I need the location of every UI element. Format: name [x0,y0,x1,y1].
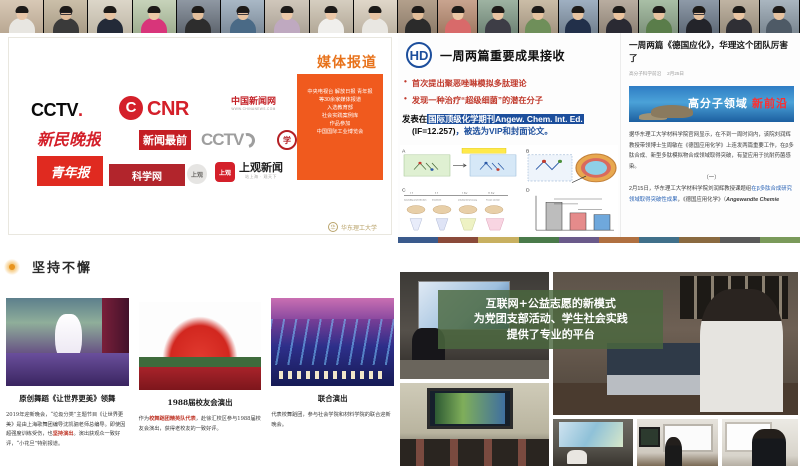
slide-left-column: HD 一周两篇重要成果接收 首次提出聚恶唑啉模拟多肽理论 发现一种治疗“超级细菌… [398,33,620,237]
body-impact-factor: (IF=12.257) [402,126,456,136]
svg-text:B: B [526,149,529,153]
body-prefix: 发表在 [402,114,427,124]
article-banner-image: 高分子领域 新前沿 [629,86,794,122]
cctv-gray-logo: CCTV [201,130,255,150]
participant-tile[interactable] [133,0,177,33]
desc-part-1: 作为 [139,416,149,422]
cnr-logo: CNR [147,98,189,121]
university-footer-name: 华东理工大学 [341,223,377,232]
cctv-logo-dot: . [78,100,83,121]
card-description: 作为校舞蹈团精英队代表，赴徐汇校区参与1988届校友会演出，获得老校友的一致好评… [139,415,262,434]
card-description: 2019年迎新晚会，“垃圾分类”主题节目《让世界更美》是由上海歌舞团编导沈凯骊老… [6,411,129,450]
article-date: 2月25日 [667,71,684,77]
overlay-line: 为党团支部活动、学生社会实践 [446,311,655,327]
photo-collage: 互联网+公益志愿的新模式 为党团支部活动、学生社会实践 提供了专业的平台 [398,270,800,468]
svg-text:C: C [402,188,406,192]
figure-svg: A B [400,145,618,235]
china-news-logo: 中国新闻网WWW.CHINANEWS.COM [231,96,276,111]
bullet-item: 首次提出聚恶唑啉模拟多肽理论 [404,77,616,89]
highlight-line: 中国国际工业博览会 [301,128,379,136]
slide-card: 媒体报道 中央电视台 解放日报 青年报 等30余家媒体报道 入选教育部 社会实践… [8,37,392,235]
banner-island-icon [651,105,693,118]
page-title: 媒体报道 [317,52,377,72]
article-text-tail: ，《德国应用化学》（ [678,197,727,203]
participant-tile[interactable] [639,0,679,33]
participant-tile[interactable] [265,0,309,33]
china-news-logo-url: WWW.CHINANEWS.COM [231,107,275,111]
participant-tile[interactable] [478,0,518,33]
participant-tile[interactable] [310,0,354,33]
panel-volunteer-collage[interactable]: 互联网+公益志愿的新模式 为党团支部活动、学生社会实践 提供了专业的平台 [398,237,800,468]
whiteboard-teaching-photo [635,417,719,468]
video-participant-strip-top-right[interactable] [398,0,800,33]
article-section-marker: （一） [629,173,794,184]
card-caption: 原创舞蹈《让世界更美》领舞 [6,393,129,404]
participant-tile[interactable] [599,0,639,33]
svg-text:A: A [402,149,406,153]
banner-text-main: 高分子领域 [688,98,748,110]
svg-text:wounding and infection: wounding and infection [404,199,426,202]
whiteboard-student-photo [720,417,800,468]
xinwen-zuiqian-logo: 新闻最前 [139,130,191,150]
card-row: 原创舞蹈《让世界更美》领舞 2019年迎新晚会，“垃圾分类”主题节目《让世界更美… [6,298,394,468]
desc-part-1: 代表校舞蹈团，参与社会学院和材料学院的联合迎新晚会。 [271,412,390,428]
xinmin-evening-news-logo: 新民晚报 [37,126,101,150]
panel-research-achievement[interactable]: HD 一周两篇重要成果接收 首次提出聚恶唑啉模拟多肽理论 发现一种治疗“超级细菌… [398,0,800,237]
highlight-line: 作品参加 [301,120,379,128]
cctv-gray-logo-text: CCTV [201,130,243,150]
shangguan-news-logo-slogan: 站上海 · 观天下 [245,175,277,180]
card-original-dance[interactable]: 原创舞蹈《让世界更美》领舞 2019年迎新晚会，“垃圾分类”主题节目《让世界更美… [6,298,129,468]
slide-persistence: 坚持不懈 原创舞蹈《让世界更美》领舞 2019年迎新晚会，“垃圾分类”主题节目《… [0,237,398,468]
card-joint-performance[interactable]: 联合演出 代表校舞蹈团，参与社会学院和材料学院的联合迎新晚会。 [271,298,394,468]
card-description: 代表校舞蹈团，参与社会学院和材料学院的联合迎新晚会。 [271,411,394,430]
article-source: 高分子科学前沿 [629,71,661,77]
article-text-plain: 2月15日，华东理工大学材料学院刘润辉教授课题组 [629,186,751,192]
slide-volunteer-collage: 互联网+公益志愿的新模式 为党团支部活动、学生社会实践 提供了专业的平台 [398,270,800,468]
slide-heading-row: HD 一周两篇重要成果接收 [406,42,616,68]
university-ring-icon: 华 [328,222,338,232]
china-news-logo-text: 中国新闻网 [231,96,276,107]
desc-highlight: 校舞蹈团精英队代表 [149,416,196,422]
article-byline: 高分子科学前沿 2月25日 [629,71,794,77]
participant-tile[interactable] [720,0,760,33]
article-title: 一周两篇《德国应化》，华理这个团队厉害了 [629,39,794,65]
cctv-logo-text: CCTV [31,100,78,121]
svg-text:2 h: 2 h [410,192,413,194]
participant-tile[interactable] [0,0,44,33]
university-seal-logo: 学 [277,130,297,150]
video-participant-strip-top-left[interactable] [0,0,398,33]
participant-tile[interactable] [679,0,719,33]
card-caption: 联合演出 [271,393,394,404]
overlay-line: 互联网+公益志愿的新模式 [446,296,655,312]
card-alumni-performance[interactable]: 1988届校友会演出 作为校舞蹈团精英队代表，赴徐汇校区参与1988届校友会演出… [139,298,262,468]
svg-text:4 h: 4 h [435,192,438,194]
sciencenet-logo-text: 科学网 [132,168,162,183]
highlight-box: 中央电视台 解放日报 青年报 等30余家媒体报道 入选教育部 社会实践案例库 作… [297,74,383,180]
participant-tile[interactable] [519,0,559,33]
highlight-line: 等30余家媒体报道 [301,96,379,104]
desc-highlight: 坚持演出 [53,431,74,437]
overlay-caption: 互联网+公益志愿的新模式 为党团支部活动、学生社会实践 提供了专业的平台 [438,290,663,349]
persistence-content: 坚持不懈 原创舞蹈《让世界更美》领舞 2019年迎新晚会，“垃圾分类”主题节目《… [0,243,398,468]
article-paragraph-last: 2月15日，华东理工大学材料学院刘润辉教授课题组在β多肽合成研究领域取得突破性成… [629,184,794,206]
banner-text-accent: 新前沿 [752,98,788,110]
participant-tile[interactable] [760,0,800,33]
panel-persistence[interactable]: 坚持不懈 原创舞蹈《让世界更美》领舞 2019年迎新晚会，“垃圾分类”主题节目《… [0,237,398,468]
participant-tile[interactable] [177,0,221,33]
slide-media-coverage: 媒体报道 中央电视台 解放日报 青年报 等30余家媒体报道 入选教育部 社会实践… [0,33,398,237]
bullet-text: 发现一种治疗“超级细菌”的潜在分子 [412,94,543,106]
slide-research-achievement: HD 一周两篇重要成果接收 首次提出聚恶唑啉模拟多肽理论 发现一种治疗“超级细菌… [398,33,800,237]
article-paragraph: 据华东理工大学材料学院官网显示，在不到一周时间内，该院刘润辉教授带领博士生周敏在… [629,130,794,173]
classroom-screen-photo [398,381,551,468]
sciencenet-logo: 科学网 [109,164,185,186]
svg-text:D: D [526,188,530,192]
bullet-item: 发现一种治疗“超级细菌”的潜在分子 [404,94,616,106]
bullet-list: 首次提出聚恶唑啉模拟多肽理论 发现一种治疗“超级细菌”的潜在分子 [404,77,616,106]
shangguan-badge-logo: 上观 [215,162,235,182]
body-highlight: 国际顶级化学期刊Angew. Chem. Int. Ed. [427,114,584,124]
svg-text:anti-bacterial assay: anti-bacterial assay [458,199,477,202]
participant-tile[interactable] [438,0,478,33]
participant-tile[interactable] [354,0,398,33]
svg-text:11 day: 11 day [488,192,494,194]
cnr-badge-icon: C [119,96,143,120]
highlight-line: 社会实践案例库 [301,112,379,120]
university-logo-icon: HD [406,42,432,68]
overlay-line: 提供了专业的平台 [446,327,655,343]
participant-tile[interactable] [221,0,265,33]
qingnian-bao-logo: 青年报 [37,156,103,186]
participant-tile[interactable] [559,0,599,33]
article-body: 据华东理工大学材料学院官网显示，在不到一周时间内，该院刘润辉教授带领博士生周敏在… [629,130,794,206]
panel-media-coverage[interactable]: 媒体报道 中央电视台 解放日报 青年报 等30余家媒体报道 入选教育部 社会实践… [0,0,398,237]
wechat-article-column[interactable]: 一周两篇《德国应化》，华理这个团队厉害了 高分子科学前沿 2月25日 高分子领域… [620,33,800,237]
page-title: 坚持不懈 [32,257,92,276]
sparkle-icon [4,259,20,275]
svg-text:1 day: 1 day [462,192,467,194]
slide-body-text: 发表在国际顶级化学期刊Angew. Chem. Int. Ed. (IF=12.… [402,113,616,137]
shangguan-news-logo: 上观新闻站上海 · 观天下 [239,162,283,180]
highlight-line: 中央电视台 解放日报 青年报 [301,88,379,96]
svg-text:treatment: treatment [432,199,442,202]
svg-text:Tissue section: Tissue section [486,199,500,202]
university-footer-logo: 华 华东理工大学 [328,222,377,232]
alumni-performance-photo [139,302,262,390]
article-journal-name: Angewandte Chemie [726,197,779,203]
participant-tile[interactable] [88,0,132,33]
participant-tile[interactable] [44,0,88,33]
video-participant-strip-bottom-right[interactable] [398,237,800,243]
card-caption: 1988届校友会演出 [139,397,262,408]
original-dance-photo [6,298,129,386]
banner-text: 高分子领域 新前沿 [688,95,788,111]
media-logo-wall: CCTV. C CNR 中国新闻网WWW.CHINANEWS.COM 新民晚报 … [19,72,309,202]
cctv-logo: CCTV. [31,100,83,121]
research-figure: A B [400,145,618,235]
projector-lecture-photo [551,417,635,468]
participant-tile[interactable] [398,0,438,33]
screen-capture-grid: 媒体报道 中央电视台 解放日报 青年报 等30余家媒体报道 入选教育部 社会实践… [0,0,800,468]
shangguan-circle-logo: 上观 [187,164,207,184]
body-suffix: ，被选为VIP和封面论文。 [456,126,553,136]
joint-performance-photo [271,298,394,386]
slide-heading: 一周两篇重要成果接收 [440,47,565,64]
bullet-text: 首次提出聚恶唑啉模拟多肽理论 [412,77,527,89]
highlight-line: 入选教育部 [301,104,379,112]
